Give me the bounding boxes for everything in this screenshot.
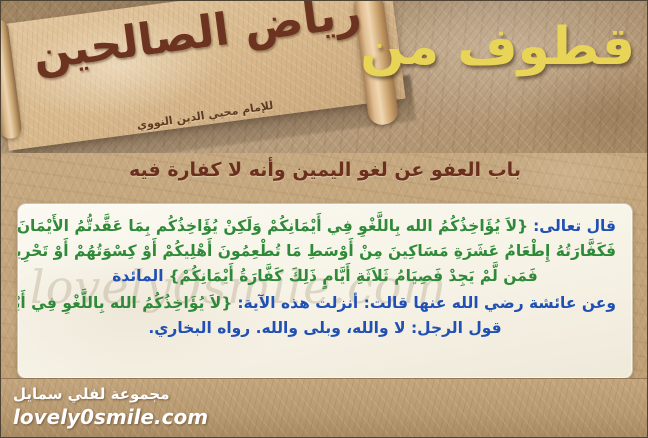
footer-website-url: lovely0smile.com — [13, 405, 208, 429]
parchment-scroll-graphic: رياض الصالحين للإمام محيي الدين النووي — [1, 1, 419, 153]
quran-line-1: قال تعالى: {لاَ يُؤَاخِذُكُمُ الله بِالل… — [34, 214, 616, 239]
quran-text-line-1: {لاَ يُؤَاخِذُكُمُ الله بِاللَّغْوِ فِي … — [17, 217, 528, 235]
page-root: رياض الصالحين للإمام محيي الدين النووي ق… — [0, 0, 648, 438]
hadith-narrator-text: وعن عائشة رضي الله عنها قالت: أنزلت هذه … — [237, 294, 616, 312]
hadith-quoted-ayah: {لاَ يُؤَاخِذُكُمُ الله بِاللَّغْوِ فِي … — [17, 294, 232, 312]
header-banner: رياض الصالحين للإمام محيي الدين النووي ق… — [1, 1, 648, 153]
series-label-calligraphy: قطوف من — [419, 19, 635, 76]
quran-surah-reference: المائدة — [112, 267, 163, 285]
quran-line-2: فَكَفَّارَتُهُ إِطْعَامُ عَشَرَةِ مَسَاك… — [34, 239, 616, 264]
hadith-line-1: وعن عائشة رضي الله عنها قالت: أنزلت هذه … — [34, 291, 616, 316]
footer-bar: مجموعة لفلي سمايل lovely0smile.com — [1, 378, 648, 437]
quran-line-3: فَمَن لَّمْ يَجِدْ فَصِيَامُ ثَلاَثَةِ أ… — [34, 264, 616, 289]
hadith-line-2: قول الرجل: لا والله، وبلى والله. رواه ال… — [34, 316, 616, 341]
chapter-title: باب العفو عن لغو اليمين وأنه لا كفارة في… — [1, 159, 648, 181]
card-body: قال تعالى: {لاَ يُؤَاخِذُكُمُ الله بِالل… — [34, 214, 616, 342]
quran-text-line-3: فَمَن لَّمْ يَجِدْ فَصِيَامُ ثَلاَثَةِ أ… — [168, 267, 537, 285]
footer-group-name: مجموعة لفلي سمايل — [13, 385, 170, 403]
quran-intro-label: قال تعالى: — [533, 217, 616, 235]
content-card: lovely0smile.com قال تعالى: {لاَ يُؤَاخِ… — [17, 203, 633, 379]
